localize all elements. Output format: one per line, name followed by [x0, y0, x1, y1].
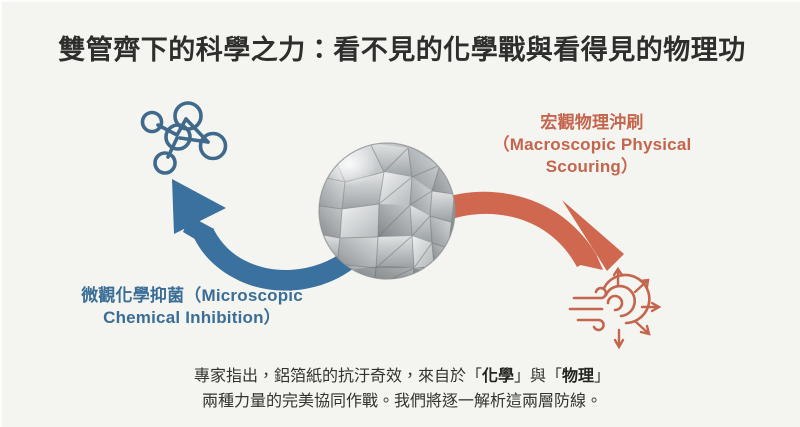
caption: 專家指出，鋁箔紙的抗汙奇效，來自於「化學」與「物理」 兩種力量的完美協同作戰。我…	[102, 364, 702, 414]
label-right-line3: Scouring）	[457, 156, 727, 178]
caption-line1-part2: 」與「	[514, 368, 562, 385]
label-left-line1: 微觀化學抑菌（Microscopic	[42, 285, 342, 307]
wind-scouring-icon	[570, 269, 659, 347]
red-curved-arrow-right	[438, 192, 624, 271]
caption-emphasis-physics: 物理	[562, 368, 594, 385]
caption-line-2: 兩種力量的完美協同作戰。我們將逐一解析這兩層防線。	[102, 389, 702, 414]
page-title: 雙管齊下的科學之力：看不見的化學戰與看得見的物理功	[2, 33, 800, 67]
microscopic-chemical-inhibition-label: 微觀化學抑菌（Microscopic Chemical Inhibition）	[42, 285, 342, 329]
caption-line1-part3: 」	[594, 368, 610, 385]
slide-root: 雙管齊下的科學之力：看不見的化學戰與看得見的物理功	[0, 0, 800, 427]
label-right-line1: 宏觀物理沖刷	[457, 112, 727, 134]
label-right-line2: （Macroscopic Physical	[457, 134, 727, 156]
caption-emphasis-chemistry: 化學	[482, 368, 514, 385]
label-left-line2: Chemical Inhibition）	[42, 307, 342, 329]
blue-curved-arrow-left	[172, 179, 354, 291]
molecule-icon	[143, 103, 226, 173]
caption-line-1: 專家指出，鋁箔紙的抗汙奇效，來自於「化學」與「物理」	[102, 364, 702, 389]
caption-line1-part1: 專家指出，鋁箔紙的抗汙奇效，來自於「	[194, 368, 482, 385]
macroscopic-physical-scouring-label: 宏觀物理沖刷 （Macroscopic Physical Scouring）	[457, 112, 727, 178]
